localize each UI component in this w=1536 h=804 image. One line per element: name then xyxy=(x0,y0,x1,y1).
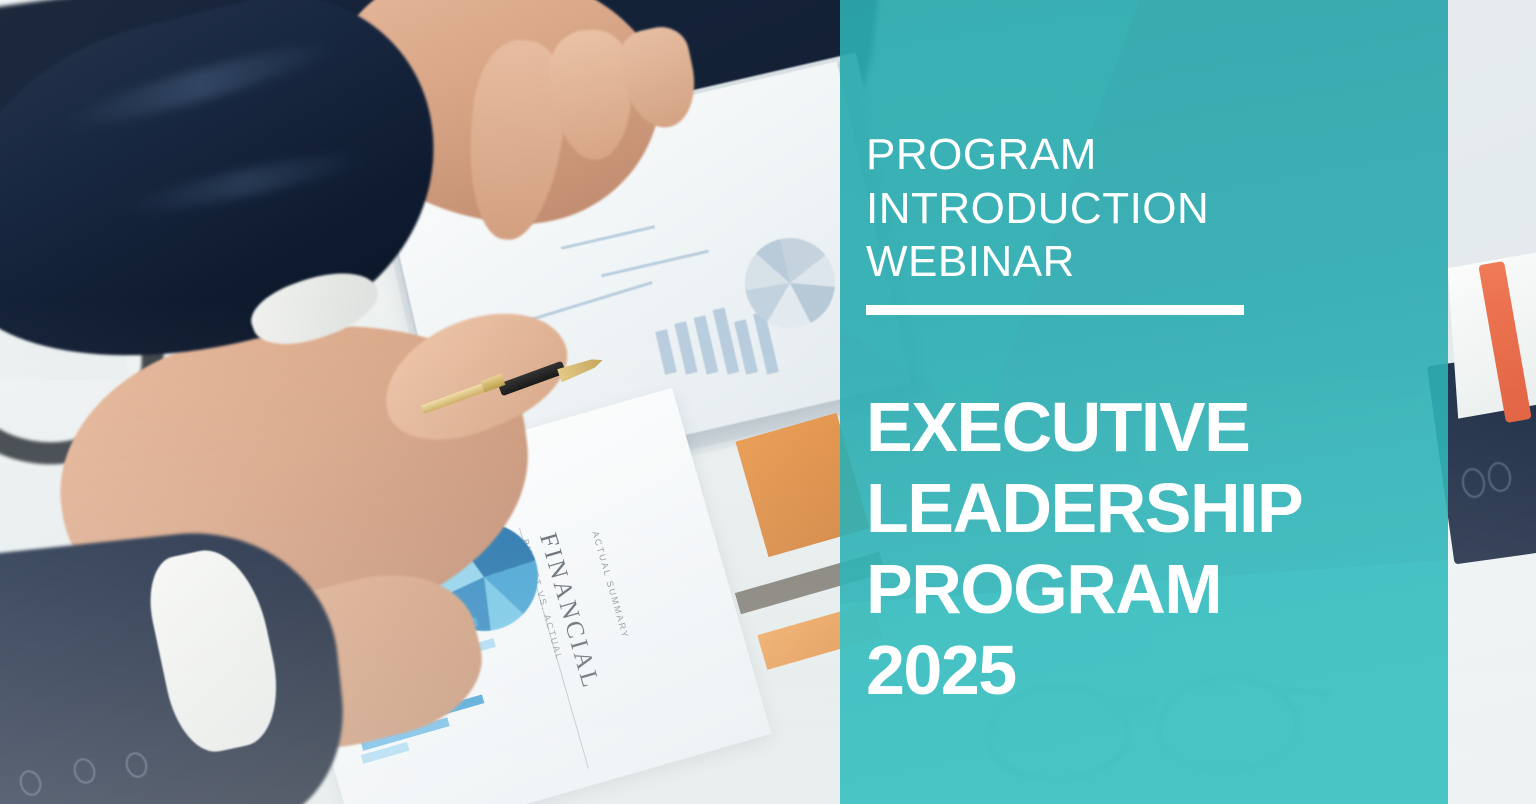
headline-line-2: LEADERSHIP xyxy=(866,468,1406,549)
kicker-line-2: INTRODUCTION xyxy=(866,182,1386,236)
white-rule-divider xyxy=(866,305,1244,315)
headline-line-3: PROGRAM xyxy=(866,549,1406,630)
kicker-line-1: PROGRAM xyxy=(866,128,1386,182)
headline-line-4: 2025 xyxy=(866,630,1406,711)
kicker-line-3: WEBINAR xyxy=(866,235,1386,289)
webinar-promo-banner: FINANCIAL ACTUAL SUMMARY BUDGET VS. ACTU… xyxy=(0,0,1536,804)
banner-text-block: PROGRAM INTRODUCTION WEBINAR EXECUTIVE L… xyxy=(866,0,1426,804)
headline-line-1: EXECUTIVE xyxy=(866,387,1406,468)
page-title: EXECUTIVE LEADERSHIP PROGRAM 2025 xyxy=(866,387,1406,712)
kicker-eyebrow: PROGRAM INTRODUCTION WEBINAR xyxy=(866,128,1386,289)
